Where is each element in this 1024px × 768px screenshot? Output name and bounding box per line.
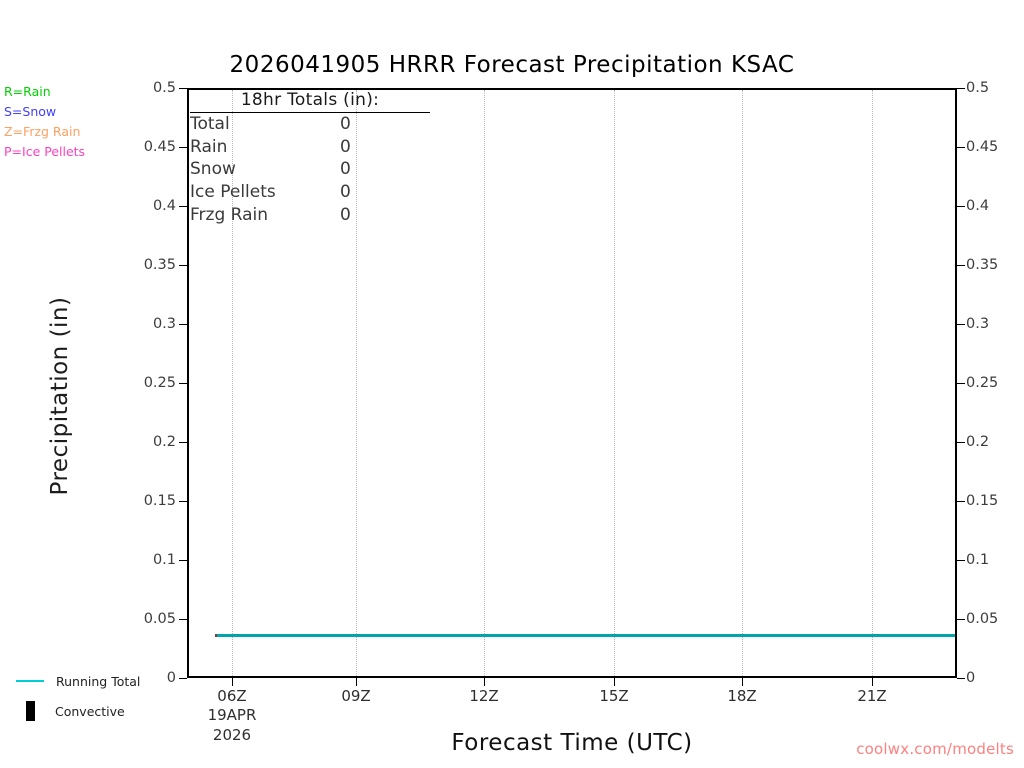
y-tick-mark	[179, 324, 187, 325]
y-tick-label-right: 0.15	[966, 493, 998, 509]
y-tick-mark	[179, 265, 187, 266]
y-tick-mark	[179, 560, 187, 561]
y-tick-mark	[957, 501, 965, 502]
y-tick-label-right: 0	[966, 670, 975, 686]
gridline-vertical	[614, 90, 616, 676]
y-tick-label: 0.5	[153, 80, 176, 96]
y-axis-right-labels: 0 0.05 0.1 0.15 0.2 0.25 0.3 0.35 0.4 0.…	[966, 88, 1024, 678]
totals-row: Snow 0	[190, 158, 440, 181]
x-tick-label: 09Z	[341, 687, 370, 705]
page-title: 2026041905 HRRR Forecast Precipitation K…	[0, 52, 1024, 78]
y-tick-label: 0.4	[153, 198, 176, 214]
x-tick-mark	[232, 678, 233, 686]
y-tick-label: 0.05	[144, 611, 176, 627]
y-tick-mark	[957, 147, 965, 148]
y-tick-label-right: 0.5	[966, 80, 989, 96]
y-tick-mark	[179, 501, 187, 502]
totals-value: 0	[340, 204, 380, 227]
y-axis-left-labels: 0 0.05 0.1 0.15 0.2 0.25 0.3 0.35 0.4 0.…	[0, 88, 176, 678]
totals-value: 0	[340, 113, 380, 136]
y-tick-mark	[957, 88, 965, 89]
y-tick-mark	[957, 678, 965, 679]
y-tick-label: 0.2	[153, 434, 176, 450]
legend-label: Convective	[55, 704, 125, 719]
y-tick-label: 0.45	[144, 139, 176, 155]
totals-summary-box: 18hr Totals (in): Total 0 Rain 0 Snow 0 …	[190, 90, 440, 227]
y-tick-mark	[179, 147, 187, 148]
x-tick-label-time: 06Z	[217, 687, 246, 705]
y-tick-mark	[957, 265, 965, 266]
x-tick-mark	[614, 678, 615, 686]
x-tick-mark	[356, 678, 357, 686]
y-tick-label-right: 0.45	[966, 139, 998, 155]
bar-swatch-icon	[26, 701, 35, 721]
totals-label: Frzg Rain	[190, 204, 340, 227]
y-tick-label: 0.1	[153, 552, 176, 568]
y-tick-label-right: 0.05	[966, 611, 998, 627]
x-tick-mark	[484, 678, 485, 686]
y-tick-mark	[957, 383, 965, 384]
y-tick-label-right: 0.1	[966, 552, 989, 568]
totals-row: Total 0	[190, 113, 440, 136]
site-watermark: coolwx.com/modelts	[856, 740, 1014, 758]
totals-label: Rain	[190, 136, 340, 159]
y-tick-mark	[179, 442, 187, 443]
y-tick-label-right: 0.4	[966, 198, 989, 214]
totals-header: 18hr Totals (in):	[190, 90, 430, 113]
gridline-vertical	[872, 90, 874, 676]
x-axis-title: Forecast Time (UTC)	[187, 730, 957, 756]
line-swatch-icon	[16, 680, 44, 682]
y-tick-label: 0.25	[144, 375, 176, 391]
totals-row: Rain 0	[190, 136, 440, 159]
y-tick-label-right: 0.25	[966, 375, 998, 391]
totals-label: Total	[190, 113, 340, 136]
legend-label: Running Total	[56, 674, 140, 689]
series-legend: Running Total Convective	[8, 666, 183, 726]
legend-entry-convective: Convective	[8, 696, 183, 726]
y-tick-mark	[179, 88, 187, 89]
totals-value: 0	[340, 181, 380, 204]
x-tick-label: 12Z	[469, 687, 498, 705]
y-tick-label-right: 0.35	[966, 257, 998, 273]
y-tick-mark	[957, 206, 965, 207]
totals-value: 0	[340, 158, 380, 181]
y-tick-label-right: 0.3	[966, 316, 989, 332]
running-total-series-line	[217, 634, 955, 637]
y-tick-label-right: 0.2	[966, 434, 989, 450]
x-tick-mark	[872, 678, 873, 686]
totals-value: 0	[340, 136, 380, 159]
totals-row: Frzg Rain 0	[190, 204, 440, 227]
y-tick-label: 0.3	[153, 316, 176, 332]
y-tick-mark	[957, 560, 965, 561]
y-tick-mark	[179, 206, 187, 207]
legend-entry-running-total: Running Total	[8, 666, 183, 696]
gridline-vertical	[742, 90, 744, 676]
y-tick-mark	[957, 619, 965, 620]
x-tick-label: 21Z	[857, 687, 886, 705]
y-tick-mark	[957, 324, 965, 325]
x-tick-mark	[742, 678, 743, 686]
totals-row: Ice Pellets 0	[190, 181, 440, 204]
y-tick-label: 0.15	[144, 493, 176, 509]
y-tick-label: 0.35	[144, 257, 176, 273]
x-tick-label: 15Z	[599, 687, 628, 705]
y-tick-mark	[957, 442, 965, 443]
x-tick-label-date: 19APR	[208, 705, 257, 725]
totals-label: Ice Pellets	[190, 181, 340, 204]
x-tick-label: 18Z	[727, 687, 756, 705]
y-tick-mark	[179, 619, 187, 620]
y-tick-mark	[179, 383, 187, 384]
totals-label: Snow	[190, 158, 340, 181]
gridline-vertical	[484, 90, 486, 676]
